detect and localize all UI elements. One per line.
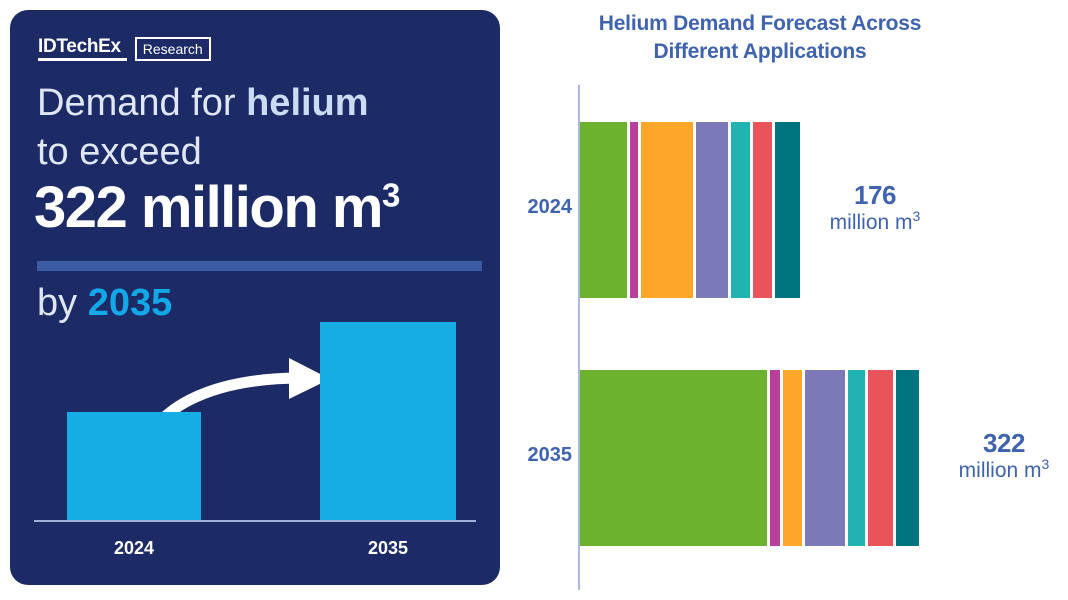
promo-mini-bar-chart: 2024 2035 (34, 340, 476, 575)
mini-bar-2035 (320, 322, 456, 520)
headline-line-1-prefix: Demand for (37, 82, 246, 124)
bar-segment-2024-6 (753, 122, 772, 298)
logo-wordmark: IDTechEx (38, 37, 127, 61)
bar-segment-2035-1 (580, 370, 767, 546)
stacked-bar-2035 (580, 370, 919, 546)
bar-segment-2035-7 (896, 370, 920, 546)
mini-chart-baseline (34, 520, 476, 522)
bar-segment-2024-7 (775, 122, 799, 298)
category-label-2024: 2024 (510, 196, 572, 219)
value-label-2024: 176 million m3 (800, 182, 950, 234)
headline-by-prefix: by (37, 282, 88, 324)
bar-segment-2035-3 (783, 370, 803, 546)
value-unit-text-2024: million m (830, 211, 913, 234)
bar-segment-2035-2 (770, 370, 779, 546)
headline-line-2: to exceed (37, 129, 202, 175)
chart-title-line-1: Helium Demand Forecast Across (500, 10, 1020, 38)
promo-card: IDTechEx Research Demand for helium to e… (10, 10, 500, 585)
idtechex-logo: IDTechEx Research (38, 37, 211, 61)
headline-by-year-value: 2035 (88, 282, 173, 324)
headline-by-year: by 2035 (37, 280, 172, 326)
category-label-2035: 2035 (510, 444, 572, 467)
helium-demand-chart: Helium Demand Forecast Across Different … (500, 0, 1068, 600)
headline-divider (37, 261, 482, 271)
mini-bar-label-2024: 2024 (67, 538, 201, 559)
bar-segment-2024-2 (630, 122, 639, 298)
chart-title: Helium Demand Forecast Across Different … (500, 10, 1020, 66)
headline-big-superscript: 3 (382, 177, 399, 214)
mini-bar-label-2035: 2035 (320, 538, 456, 559)
bar-segment-2024-4 (696, 122, 728, 298)
value-unit-sup-2035: 3 (1042, 456, 1050, 472)
bar-segment-2024-1 (580, 122, 627, 298)
value-label-2035: 322 million m3 (940, 430, 1068, 482)
bar-segment-2035-4 (805, 370, 845, 546)
value-unit-2035: million m3 (940, 460, 1068, 482)
bar-segment-2035-5 (848, 370, 865, 546)
value-number-2024: 176 (800, 182, 950, 209)
headline-line-1-bold: helium (246, 82, 368, 124)
value-unit-sup-2024: 3 (913, 208, 921, 224)
headline-big-number: 322 million m3 (34, 175, 399, 241)
value-number-2035: 322 (940, 430, 1068, 457)
stacked-bar-2024 (580, 122, 800, 298)
value-unit-text-2035: million m (959, 459, 1042, 482)
bar-segment-2024-3 (641, 122, 693, 298)
mini-bar-2024 (67, 412, 201, 520)
chart-title-line-2: Different Applications (500, 38, 1020, 66)
value-unit-2024: million m3 (800, 212, 950, 234)
headline-big-text: 322 million m (34, 175, 382, 240)
headline-line-1: Demand for helium (37, 80, 369, 126)
bar-segment-2035-6 (868, 370, 893, 546)
logo-research-tag: Research (135, 37, 211, 61)
bar-segment-2024-5 (731, 122, 750, 298)
infographic-root: IDTechEx Research Demand for helium to e… (0, 0, 1068, 600)
